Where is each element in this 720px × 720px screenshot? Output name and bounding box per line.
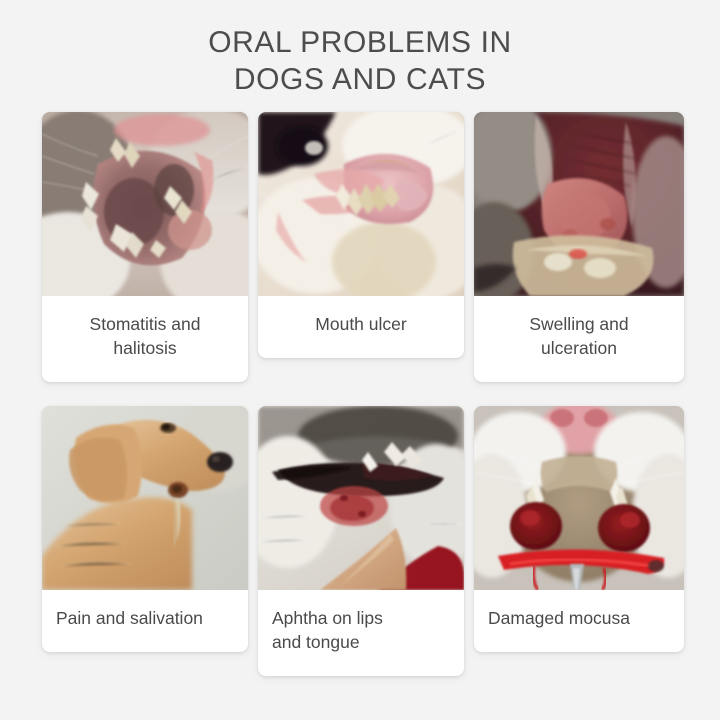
problem-card-caption: Mouth ulcer: [258, 296, 464, 358]
dog-mouth-swelling-ulceration-photo: [474, 112, 684, 296]
problem-card-caption: Damaged mocusa: [474, 590, 684, 652]
white-cat-mouth-ulcer-photo: [258, 112, 464, 296]
problem-card-caption: Aphtha on lips and tongue: [258, 590, 464, 676]
caption-line-2: halitosis: [52, 336, 238, 360]
caption-line-2: ulceration: [484, 336, 674, 360]
page-title: ORAL PROBLEMS IN DOGS AND CATS: [0, 0, 720, 98]
caption-line-1: Damaged mocusa: [488, 606, 670, 630]
problem-card-caption: Swelling and ulceration: [474, 296, 684, 382]
problem-card-caption: Stomatitis and halitosis: [42, 296, 248, 382]
cat-open-mouth-stomatitis-photo: [42, 112, 248, 296]
problem-card-aphtha-on-lips-and-tongue[interactable]: Aphtha on lips and tongue: [258, 406, 464, 676]
cat-damaged-mucosa-bleeding-photo: [474, 406, 684, 590]
problem-card-mouth-ulcer[interactable]: Mouth ulcer: [258, 112, 464, 358]
caption-line-1: Stomatitis and: [52, 312, 238, 336]
card-row-bottom: Pain and salivation: [42, 406, 682, 676]
cat-lip-aphtha-lesion-photo: [258, 406, 464, 590]
golden-retriever-drooling-photo: [42, 406, 248, 590]
problem-card-pain-and-salivation[interactable]: Pain and salivation: [42, 406, 248, 652]
caption-line-1: Aphtha on lips: [272, 606, 450, 630]
caption-line-1: Mouth ulcer: [268, 312, 454, 336]
problem-card-caption: Pain and salivation: [42, 590, 248, 652]
problem-card-damaged-mocusa[interactable]: Damaged mocusa: [474, 406, 684, 652]
problem-card-grid: Stomatitis and halitosis: [42, 112, 682, 676]
page-title-line-1: ORAL PROBLEMS IN: [0, 24, 720, 61]
caption-line-1: Swelling and: [484, 312, 674, 336]
page-title-line-2: DOGS AND CATS: [0, 61, 720, 98]
card-row-top: Stomatitis and halitosis: [42, 112, 682, 382]
problem-card-swelling-and-ulceration[interactable]: Swelling and ulceration: [474, 112, 684, 382]
caption-line-1: Pain and salivation: [56, 606, 234, 630]
caption-line-2: and tongue: [272, 630, 450, 654]
problem-card-stomatitis-and-halitosis[interactable]: Stomatitis and halitosis: [42, 112, 248, 382]
